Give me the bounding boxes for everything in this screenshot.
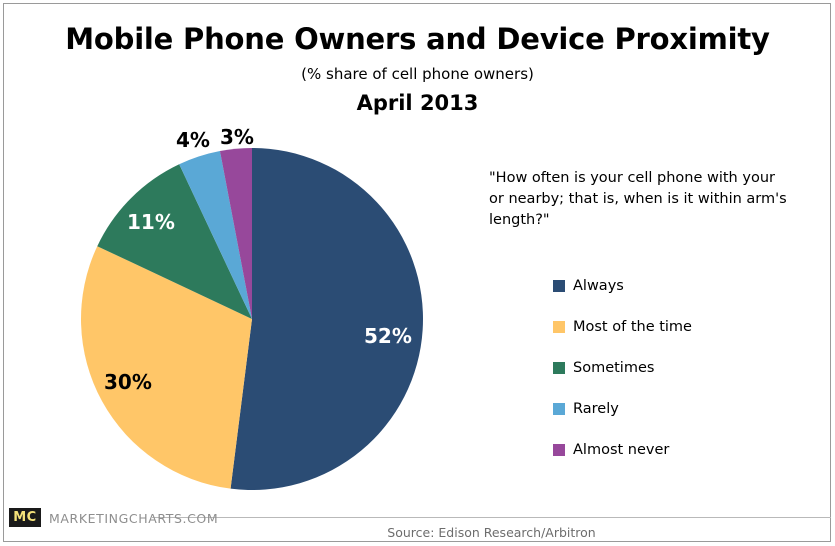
- legend-item-rarely: Rarely: [553, 388, 813, 429]
- legend-swatch-icon: [553, 321, 565, 333]
- legend-label: Rarely: [573, 401, 619, 417]
- legend-swatch-icon: [553, 362, 565, 374]
- legend-item-sometimes: Sometimes: [553, 347, 813, 388]
- chart-legend: Always Most of the time Sometimes Rarely…: [553, 265, 813, 470]
- legend-item-always: Always: [553, 265, 813, 306]
- chart-canvas: Mobile Phone Owners and Device Proximity…: [0, 0, 835, 546]
- legend-label: Most of the time: [573, 319, 692, 335]
- pie-label-almost-never: 3%: [220, 125, 254, 149]
- footer-divider: [152, 517, 831, 518]
- pie-slice: [231, 148, 423, 490]
- pie-chart-svg: [0, 0, 460, 510]
- legend-label: Sometimes: [573, 360, 654, 376]
- marketingcharts-logo: MC: [9, 508, 41, 527]
- chart-question-annotation: "How often is your cell phone with your …: [489, 168, 789, 231]
- pie-chart: 52% 30% 11% 4% 3%: [0, 0, 460, 510]
- marketingcharts-domain: MARKETINGCHARTS.COM: [49, 511, 218, 526]
- legend-swatch-icon: [553, 403, 565, 415]
- pie-slice-group: [81, 148, 423, 490]
- pie-label-most-of-the-time: 30%: [104, 370, 152, 394]
- legend-label: Almost never: [573, 442, 669, 458]
- legend-swatch-icon: [553, 444, 565, 456]
- legend-item-most-of-the-time: Most of the time: [553, 306, 813, 347]
- legend-item-almost-never: Almost never: [553, 429, 813, 470]
- source-note: Source: Edison Research/Arbitron: [152, 525, 831, 540]
- legend-swatch-icon: [553, 280, 565, 292]
- legend-label: Always: [573, 278, 624, 294]
- pie-label-rarely: 4%: [176, 128, 210, 152]
- pie-label-always: 52%: [364, 324, 412, 348]
- pie-label-sometimes: 11%: [127, 210, 175, 234]
